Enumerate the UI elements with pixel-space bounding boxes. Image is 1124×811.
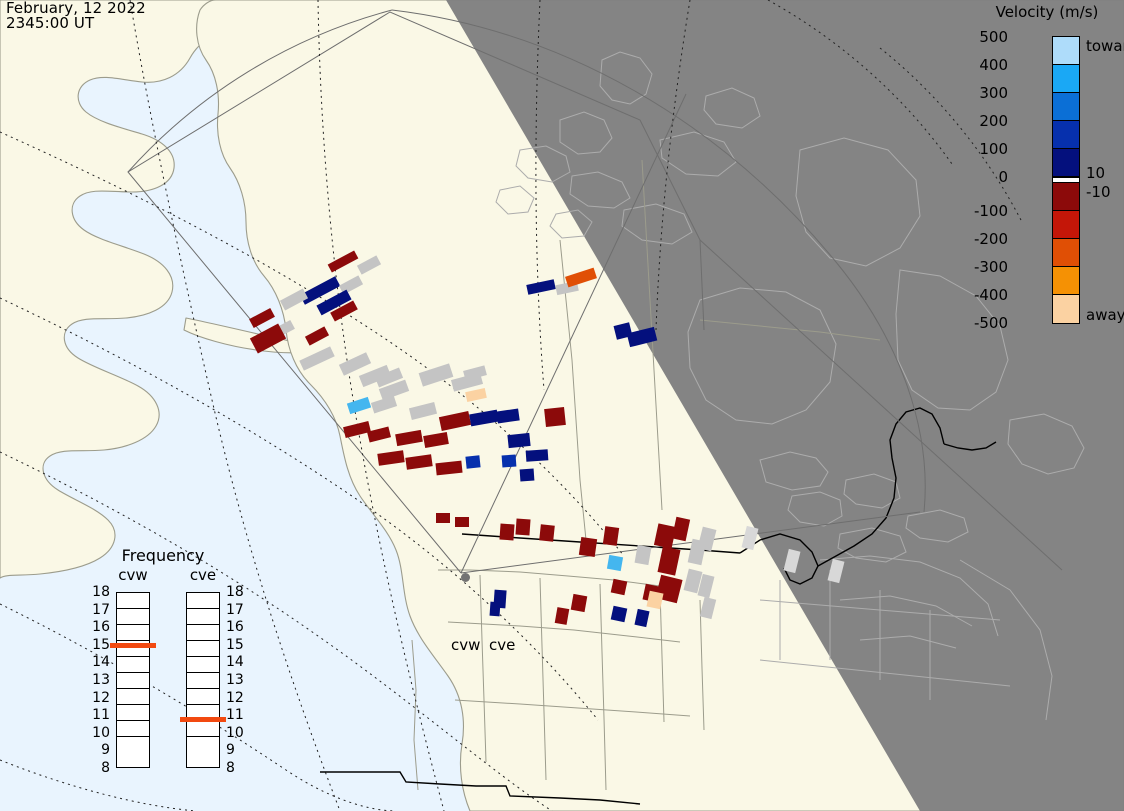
frequency-scale-label-cvw-8: 8 xyxy=(86,760,110,776)
colorbar-tick-500: 500 xyxy=(979,28,1008,46)
radar-cell xyxy=(507,433,530,448)
colorbar-away-label: away xyxy=(1086,306,1124,324)
radar-site-marker xyxy=(461,573,470,582)
colorbar-toward-label: toward xyxy=(1086,37,1124,55)
colorbar-zero-low-label: -10 xyxy=(1086,183,1111,201)
frequency-scale-label-cvw-10: 10 xyxy=(86,725,110,741)
frequency-cell xyxy=(187,625,219,641)
velocity-colorbar-panel: Velocity (m/s) 5004003002001000-100-200-… xyxy=(960,0,1124,340)
radar-cell xyxy=(502,455,517,468)
frequency-scale-label-cve-18: 18 xyxy=(226,584,250,600)
frequency-cell xyxy=(187,641,219,657)
colorbar-segment-1 xyxy=(1053,65,1079,93)
frequency-scale-label-cvw-17: 17 xyxy=(86,602,110,618)
frequency-column-name-cve: cve xyxy=(179,566,227,584)
radar-cell xyxy=(579,537,597,557)
frequency-cell xyxy=(187,609,219,625)
colorbar-tick--100: -100 xyxy=(974,202,1008,220)
station-label-cve: cve xyxy=(489,636,515,654)
frequency-scale-label-cvw-9: 9 xyxy=(86,742,110,758)
radar-cell xyxy=(544,407,566,427)
frequency-cell xyxy=(117,721,149,737)
colorbar-tick--500: -500 xyxy=(974,314,1008,332)
frequency-marker-cve xyxy=(180,717,226,722)
frequency-scale-label-cve-15: 15 xyxy=(226,637,250,653)
superdarn-velocity-map: February, 12 2022 2345:00 UT Velocity (m… xyxy=(0,0,1124,811)
frequency-bar-cvw xyxy=(116,592,150,768)
frequency-scale-label-cvw-14: 14 xyxy=(86,654,110,670)
colorbar-segment-0 xyxy=(1053,37,1079,65)
frequency-cell xyxy=(117,673,149,689)
frequency-scale-label-cve-10: 10 xyxy=(226,725,250,741)
frequency-scale-label-cve-9: 9 xyxy=(226,742,250,758)
colorbar-tick--400: -400 xyxy=(974,286,1008,304)
colorbar-tick--300: -300 xyxy=(974,258,1008,276)
frequency-cell xyxy=(187,737,219,753)
frequency-scale-label-cve-14: 14 xyxy=(226,654,250,670)
colorbar-segment-8 xyxy=(1053,239,1079,267)
radar-cell xyxy=(611,579,628,596)
colorbar-segment-9 xyxy=(1053,267,1079,295)
title-time: 2345:00 UT xyxy=(6,16,146,31)
radar-cell xyxy=(526,449,549,462)
frequency-scale-label-cvw-12: 12 xyxy=(86,690,110,706)
colorbar-segment-6 xyxy=(1053,183,1079,211)
frequency-cell xyxy=(117,737,149,753)
frequency-scale-label-cvw-16: 16 xyxy=(86,619,110,635)
colorbar-tick-200: 200 xyxy=(979,112,1008,130)
frequency-scale-label-cve-17: 17 xyxy=(226,602,250,618)
frequency-scale-label-cvw-13: 13 xyxy=(86,672,110,688)
frequency-scale-label-cvw-11: 11 xyxy=(86,707,110,723)
radar-cell xyxy=(499,524,514,541)
colorbar-segment-2 xyxy=(1053,93,1079,121)
frequency-marker-cvw xyxy=(110,643,156,648)
radar-cell xyxy=(539,524,555,541)
radar-cell xyxy=(611,606,628,623)
colorbar-gradient xyxy=(1052,36,1080,324)
frequency-scale-label-cve-12: 12 xyxy=(226,690,250,706)
frequency-cell xyxy=(117,593,149,609)
radar-cell xyxy=(571,594,588,612)
radar-cell xyxy=(607,555,623,571)
frequency-scale-label-cvw-18: 18 xyxy=(86,584,110,600)
colorbar-title: Velocity (m/s) xyxy=(972,3,1122,21)
radar-cell xyxy=(603,526,619,546)
radar-cell xyxy=(515,519,530,536)
frequency-cell xyxy=(187,593,219,609)
colorbar-segment-3 xyxy=(1053,121,1079,149)
frequency-cell xyxy=(187,657,219,673)
frequency-cell xyxy=(117,689,149,705)
frequency-cell xyxy=(117,657,149,673)
colorbar-tick-300: 300 xyxy=(979,84,1008,102)
colorbar-tick-0: 0 xyxy=(998,168,1008,186)
radar-cell xyxy=(520,469,535,482)
colorbar-zero-high-label: 10 xyxy=(1086,164,1105,182)
frequency-legend: Frequency cvw18171615141312111098cve1817… xyxy=(88,546,238,776)
frequency-column-name-cvw: cvw xyxy=(109,566,157,584)
colorbar-tick-400: 400 xyxy=(979,56,1008,74)
frequency-bar-cve xyxy=(186,592,220,768)
colorbar-tick--200: -200 xyxy=(974,230,1008,248)
frequency-cell xyxy=(187,721,219,737)
station-label-cvw: cvw xyxy=(451,636,480,654)
frequency-scale-label-cve-16: 16 xyxy=(226,619,250,635)
colorbar-segment-7 xyxy=(1053,211,1079,239)
radar-cell xyxy=(455,517,469,527)
radar-cell xyxy=(436,513,450,523)
frequency-cell xyxy=(117,705,149,721)
radar-cell xyxy=(465,455,480,468)
timestamp-title: February, 12 2022 2345:00 UT xyxy=(6,1,146,31)
frequency-title: Frequency xyxy=(88,546,238,565)
frequency-scale-label-cvw-15: 15 xyxy=(86,637,110,653)
frequency-cell xyxy=(187,673,219,689)
frequency-scale-label-cve-11: 11 xyxy=(226,707,250,723)
colorbar-segment-4 xyxy=(1053,149,1079,177)
radar-cell xyxy=(490,602,501,617)
frequency-cell xyxy=(117,625,149,641)
colorbar-tick-100: 100 xyxy=(979,140,1008,158)
frequency-scale-label-cve-8: 8 xyxy=(226,760,250,776)
frequency-cell xyxy=(117,609,149,625)
frequency-cell xyxy=(187,689,219,705)
colorbar-segment-10 xyxy=(1053,295,1079,323)
frequency-scale-label-cve-13: 13 xyxy=(226,672,250,688)
